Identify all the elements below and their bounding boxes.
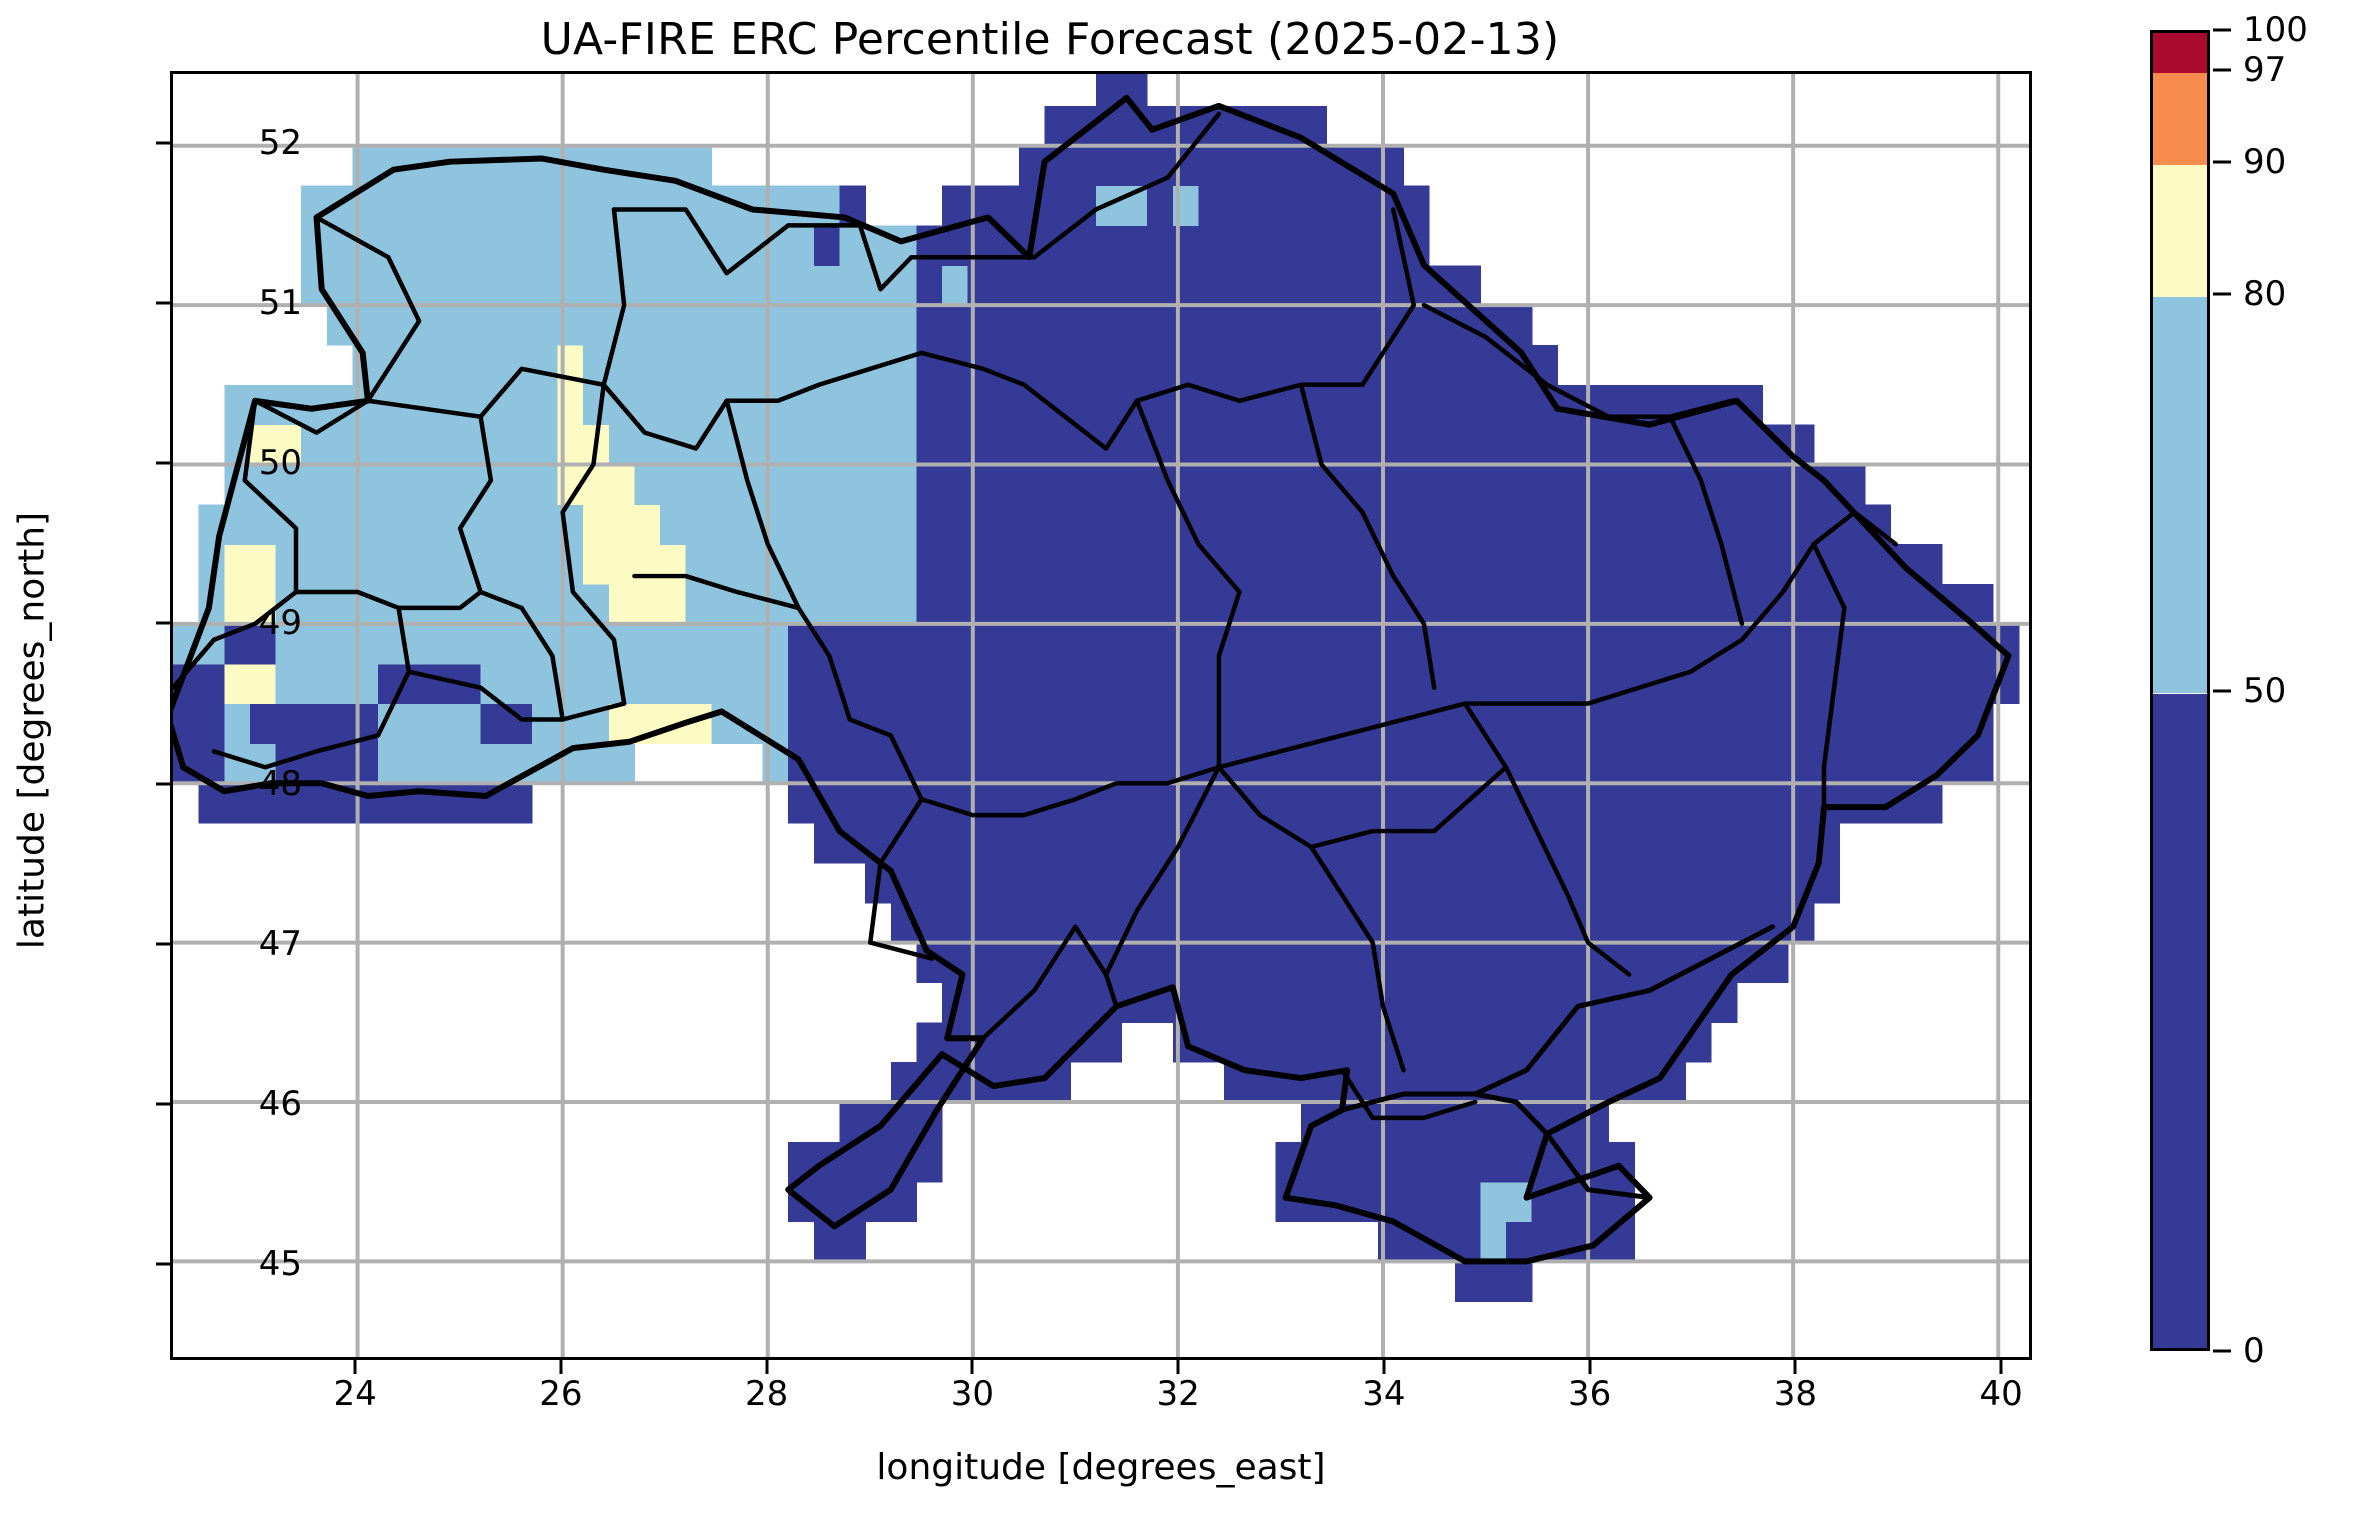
y-tick-mark-46 xyxy=(156,1102,170,1105)
y-tick-mark-52 xyxy=(156,142,170,145)
x-tick-label-40: 40 xyxy=(1979,1374,2022,1414)
chart-title: UA-FIRE ERC Percentile Forecast (2025-02… xyxy=(0,14,2100,65)
x-tick-label-38: 38 xyxy=(1774,1374,1817,1414)
colorbar-tick-label-90: 90 xyxy=(2243,142,2286,182)
colorbar-tick-label-97: 97 xyxy=(2243,50,2286,90)
y-tick-label-51: 51 xyxy=(259,283,302,323)
x-tick-mark-24 xyxy=(354,1360,357,1374)
map-canvas xyxy=(173,74,2029,1357)
y-tick-mark-47 xyxy=(156,942,170,945)
colorbar-tick-mark-0 xyxy=(2213,1350,2231,1353)
colorbar-tick-mark-97 xyxy=(2213,68,2231,71)
x-tick-label-30: 30 xyxy=(951,1374,994,1414)
x-tick-label-24: 24 xyxy=(334,1374,377,1414)
colorbar-segment-90-97 xyxy=(2153,73,2207,165)
colorbar-segment-0-50 xyxy=(2153,694,2207,1352)
x-tick-label-34: 34 xyxy=(1362,1374,1405,1414)
y-tick-mark-48 xyxy=(156,782,170,785)
x-tick-label-32: 32 xyxy=(1157,1374,1200,1414)
y-tick-mark-50 xyxy=(156,462,170,465)
x-tick-mark-34 xyxy=(1382,1360,1385,1374)
x-tick-mark-32 xyxy=(1177,1360,1180,1374)
colorbar-tick-label-100: 100 xyxy=(2243,10,2308,50)
x-tick-mark-36 xyxy=(1588,1360,1591,1374)
y-tick-label-47: 47 xyxy=(259,924,302,964)
colorbar-segment-50-80 xyxy=(2153,297,2207,693)
colorbar-tick-mark-90 xyxy=(2213,161,2231,164)
x-tick-mark-40 xyxy=(2000,1360,2003,1374)
x-tick-mark-30 xyxy=(971,1360,974,1374)
x-tick-label-26: 26 xyxy=(539,1374,582,1414)
colorbar-segment-97-100 xyxy=(2153,33,2207,73)
erc-percentile-raster xyxy=(173,74,2019,1302)
colorbar-tick-label-80: 80 xyxy=(2243,274,2286,314)
colorbar[interactable] xyxy=(2150,30,2210,1351)
x-tick-mark-28 xyxy=(765,1360,768,1374)
colorbar-tick-mark-100 xyxy=(2213,29,2231,32)
x-tick-label-36: 36 xyxy=(1568,1374,1611,1414)
y-tick-mark-49 xyxy=(156,622,170,625)
figure-root: UA-FIRE ERC Percentile Forecast (2025-02… xyxy=(0,0,2354,1517)
y-tick-mark-51 xyxy=(156,302,170,305)
colorbar-tick-mark-50 xyxy=(2213,689,2231,692)
x-tick-mark-38 xyxy=(1794,1360,1797,1374)
y-tick-label-49: 49 xyxy=(259,603,302,643)
y-tick-label-52: 52 xyxy=(259,123,302,163)
colorbar-tick-label-0: 0 xyxy=(2243,1331,2265,1371)
colorbar-tick-label-50: 50 xyxy=(2243,671,2286,711)
x-tick-label-28: 28 xyxy=(745,1374,788,1414)
x-tick-mark-26 xyxy=(559,1360,562,1374)
map-plot-area[interactable] xyxy=(170,71,2032,1360)
colorbar-segment-80-90 xyxy=(2153,165,2207,297)
x-axis-title: longitude [degrees_east] xyxy=(170,1447,2032,1488)
y-tick-label-45: 45 xyxy=(259,1244,302,1284)
y-tick-label-46: 46 xyxy=(259,1084,302,1124)
y-tick-label-50: 50 xyxy=(259,443,302,483)
colorbar-tick-mark-80 xyxy=(2213,293,2231,296)
y-axis-title: latitude [degrees_north] xyxy=(12,381,53,1081)
y-tick-label-48: 48 xyxy=(259,764,302,804)
y-tick-mark-45 xyxy=(156,1262,170,1265)
